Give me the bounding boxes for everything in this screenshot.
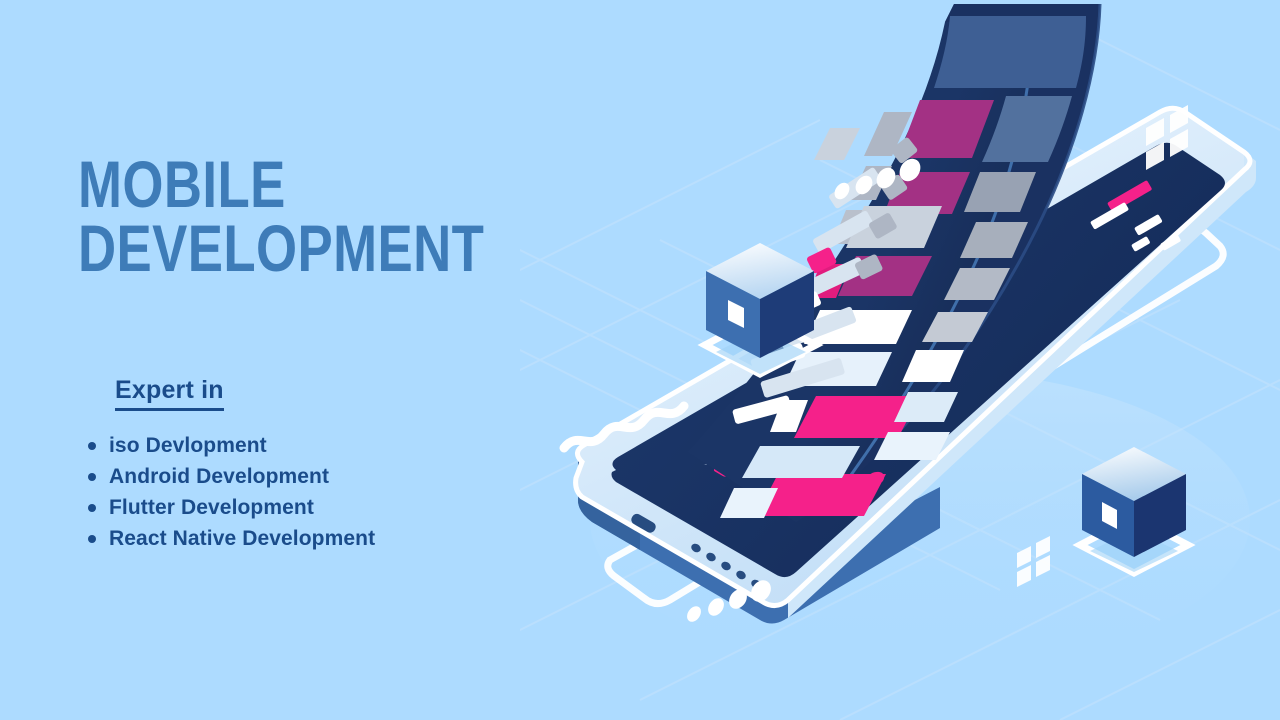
list-item: React Native Development	[88, 523, 375, 554]
list-item: iso Devlopment	[88, 430, 375, 461]
bullet-icon	[88, 442, 96, 450]
text-column: MOBILE DEVELOPMENT Expert in iso Devlopm…	[0, 0, 560, 720]
expert-heading-wrap: Expert in	[115, 376, 224, 411]
list-item-label: React Native Development	[109, 523, 375, 554]
page-title-line-2: DEVELOPMENT	[78, 216, 454, 280]
skill-list: iso Devlopment Android Development Flutt…	[88, 430, 375, 554]
hero-banner: MOBILE DEVELOPMENT Expert in iso Devlopm…	[0, 0, 1280, 720]
cube-upper-left	[705, 243, 816, 374]
bullet-icon	[88, 504, 96, 512]
bullet-icon	[88, 473, 96, 481]
mobile-development-illustration	[520, 0, 1280, 720]
list-item: Android Development	[88, 461, 375, 492]
list-item-label: Android Development	[109, 461, 329, 492]
page-title: MOBILE DEVELOPMENT	[78, 152, 454, 280]
bullet-icon	[88, 535, 96, 543]
list-item-label: iso Devlopment	[109, 430, 267, 461]
expert-heading: Expert in	[115, 376, 224, 411]
list-item-label: Flutter Development	[109, 492, 314, 523]
list-item: Flutter Development	[88, 492, 375, 523]
page-title-line-1: MOBILE	[78, 152, 454, 216]
